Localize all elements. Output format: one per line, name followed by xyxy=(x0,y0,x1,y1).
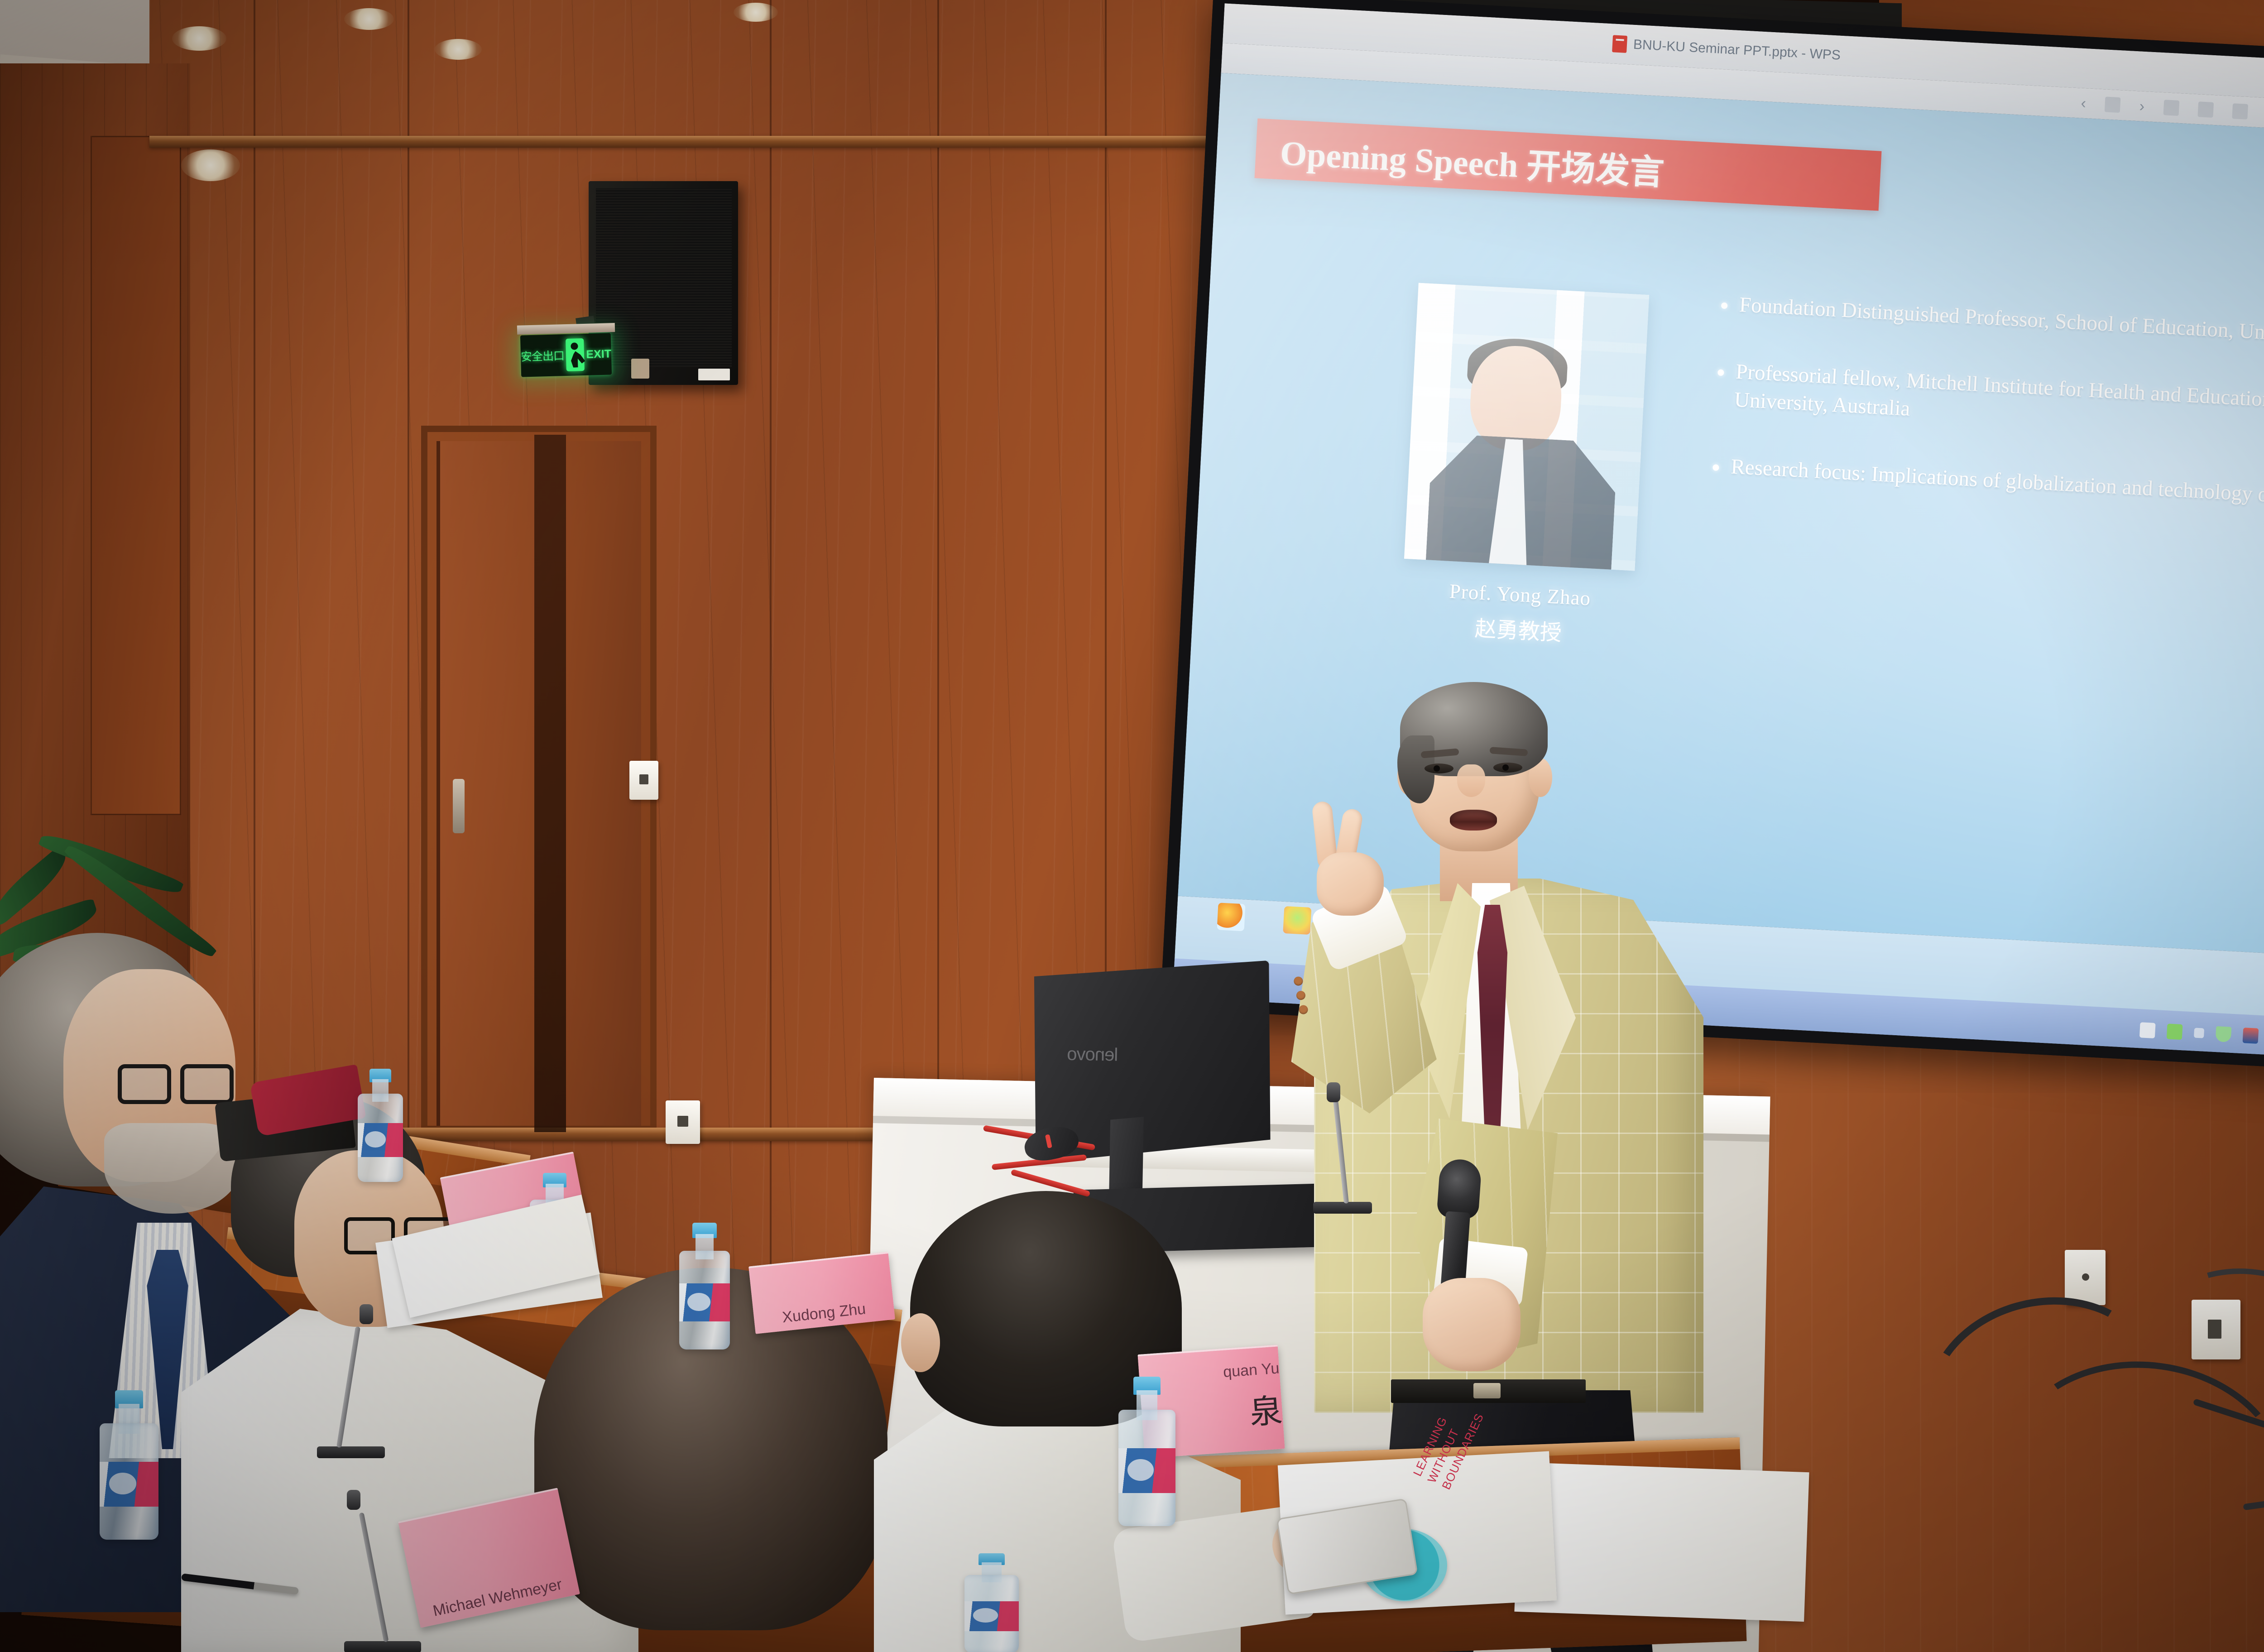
slide-portrait-photo xyxy=(1404,283,1649,571)
bullet-dot-icon xyxy=(1712,464,1719,471)
caption-name-cn: 赵勇教授 xyxy=(1373,605,1664,652)
outlet-slot xyxy=(639,774,648,784)
bullet-text: Foundation Distinguished Professor, Scho… xyxy=(1739,291,2264,355)
presenter-eye-right xyxy=(1493,763,1522,773)
microphone-head xyxy=(1436,1158,1482,1220)
presenter-hand-gesture xyxy=(1304,802,1390,915)
presenter-palm xyxy=(1317,852,1384,916)
door-handle[interactable] xyxy=(453,779,465,833)
presenter-eye-left xyxy=(1425,764,1453,773)
conference-room-scene: 安全出口 EXIT BNU-KU Seminar PPT.pptx - WPS … xyxy=(0,0,2264,1652)
monitor-icon[interactable] xyxy=(2139,1022,2156,1038)
wall-trim-upper xyxy=(149,136,1336,148)
mic-stalk xyxy=(336,1326,360,1448)
outlet-slot xyxy=(677,1116,688,1127)
running-person-exit-icon xyxy=(566,338,585,371)
mic-capsule xyxy=(347,1490,360,1510)
mic-capsule xyxy=(360,1304,373,1324)
placard-name-cn: 泉 xyxy=(1248,1383,1284,1433)
water-bottle[interactable] xyxy=(964,1553,1019,1652)
mic-stalk xyxy=(359,1513,389,1642)
presentation-file-title: BNU-KU Seminar PPT.pptx - WPS xyxy=(1633,37,1841,63)
door-open-gap xyxy=(534,435,566,1132)
open-notebook-right-page xyxy=(1514,1462,1809,1622)
power-outlet-plate[interactable] xyxy=(629,761,658,800)
downlight-4 xyxy=(435,39,482,60)
presenter-hair xyxy=(1400,682,1548,776)
shield-icon[interactable] xyxy=(2216,1026,2232,1042)
chevron-left-icon[interactable]: ‹ xyxy=(2081,94,2087,112)
bottle-label xyxy=(679,1283,730,1321)
network-outlet-plate[interactable] xyxy=(666,1100,700,1144)
presenter-mouth xyxy=(1450,810,1497,831)
downlight-3 xyxy=(181,149,240,181)
slide-title-bar: Opening Speech 开场发言 xyxy=(1254,118,1881,211)
exit-sign-label-cn: 安全出口 xyxy=(521,347,565,365)
table-documents-front: LEARNING WITHOUT BOUNDARIES xyxy=(1281,1449,1816,1652)
mic-base xyxy=(344,1641,421,1652)
note-view-icon[interactable] xyxy=(2232,103,2248,120)
bottle-label xyxy=(100,1462,158,1507)
wall-left-panel xyxy=(91,136,181,815)
water-bottle[interactable] xyxy=(100,1390,158,1540)
wall-seam-3 xyxy=(770,0,772,1404)
mail-icon[interactable] xyxy=(2242,1028,2259,1044)
water-bottle[interactable] xyxy=(679,1223,730,1349)
slide-bullet-list: Foundation Distinguished Professor, Scho… xyxy=(1710,290,2264,556)
slide-bullet-item: Foundation Distinguished Professor, Scho… xyxy=(1721,290,2264,355)
slide-bullet-item: Professorial fellow, Mitchell Institute … xyxy=(1716,357,2264,451)
av-cable-bundle xyxy=(1844,1244,2264,1652)
gooseneck-microphone[interactable] xyxy=(1313,1082,1372,1214)
table-documents-left xyxy=(380,1209,634,1318)
presenter-hand-holding-mic xyxy=(1423,1278,1521,1371)
app-icon-1[interactable] xyxy=(1217,903,1246,931)
mic-base xyxy=(317,1446,385,1458)
apps-view-icon[interactable] xyxy=(2197,101,2214,118)
mic-capsule xyxy=(1327,1082,1340,1102)
bullet-text: Professorial fellow, Mitchell Institute … xyxy=(1734,358,2264,450)
bottle-label xyxy=(964,1601,1019,1631)
up-arrow-icon[interactable] xyxy=(2194,1028,2204,1038)
page-current-button[interactable] xyxy=(2105,96,2121,113)
eyeglass-lens-left xyxy=(118,1064,171,1104)
slide-photo-caption: Prof. Yong Zhao 赵勇教授 xyxy=(1373,576,1665,652)
bottle-label xyxy=(1118,1448,1175,1493)
bottle-label xyxy=(358,1123,403,1157)
bullet-text: Research focus: Implications of globaliz… xyxy=(1730,452,2264,514)
chevron-right-icon[interactable]: › xyxy=(2139,97,2145,115)
water-bottle[interactable] xyxy=(358,1069,403,1182)
wps-presentation-icon xyxy=(1612,35,1627,53)
exit-sign: 安全出口 EXIT xyxy=(520,333,612,377)
slide-title: Opening Speech 开场发言 xyxy=(1279,125,1665,194)
speaker-grille xyxy=(596,188,732,367)
placard-name: Xudong Zhu xyxy=(782,1300,867,1326)
grid-view-icon[interactable] xyxy=(2163,100,2179,116)
speaker-badge xyxy=(631,359,649,379)
downlight-1 xyxy=(172,26,226,51)
bullet-dot-icon xyxy=(1721,303,1728,309)
slide-bullet-item: Research focus: Implications of globaliz… xyxy=(1712,451,2264,517)
mic-stalk xyxy=(1333,1100,1349,1204)
exit-sign-label-en: EXIT xyxy=(586,347,611,361)
gooseneck-microphone[interactable] xyxy=(317,1304,385,1458)
placard-name: quan Yu xyxy=(1223,1359,1280,1381)
battery-icon[interactable] xyxy=(2167,1023,2183,1040)
water-bottle[interactable] xyxy=(1118,1377,1175,1526)
downlight-2 xyxy=(344,8,394,30)
speaker-model-plate xyxy=(698,369,730,380)
attendee-ear xyxy=(901,1313,940,1372)
monitor-brand-label: lenovo xyxy=(1067,1044,1118,1066)
presenter-nose xyxy=(1457,764,1485,797)
mic-base xyxy=(1313,1202,1372,1214)
system-tray[interactable] xyxy=(2139,1022,2264,1048)
bullet-dot-icon xyxy=(1717,369,1724,376)
